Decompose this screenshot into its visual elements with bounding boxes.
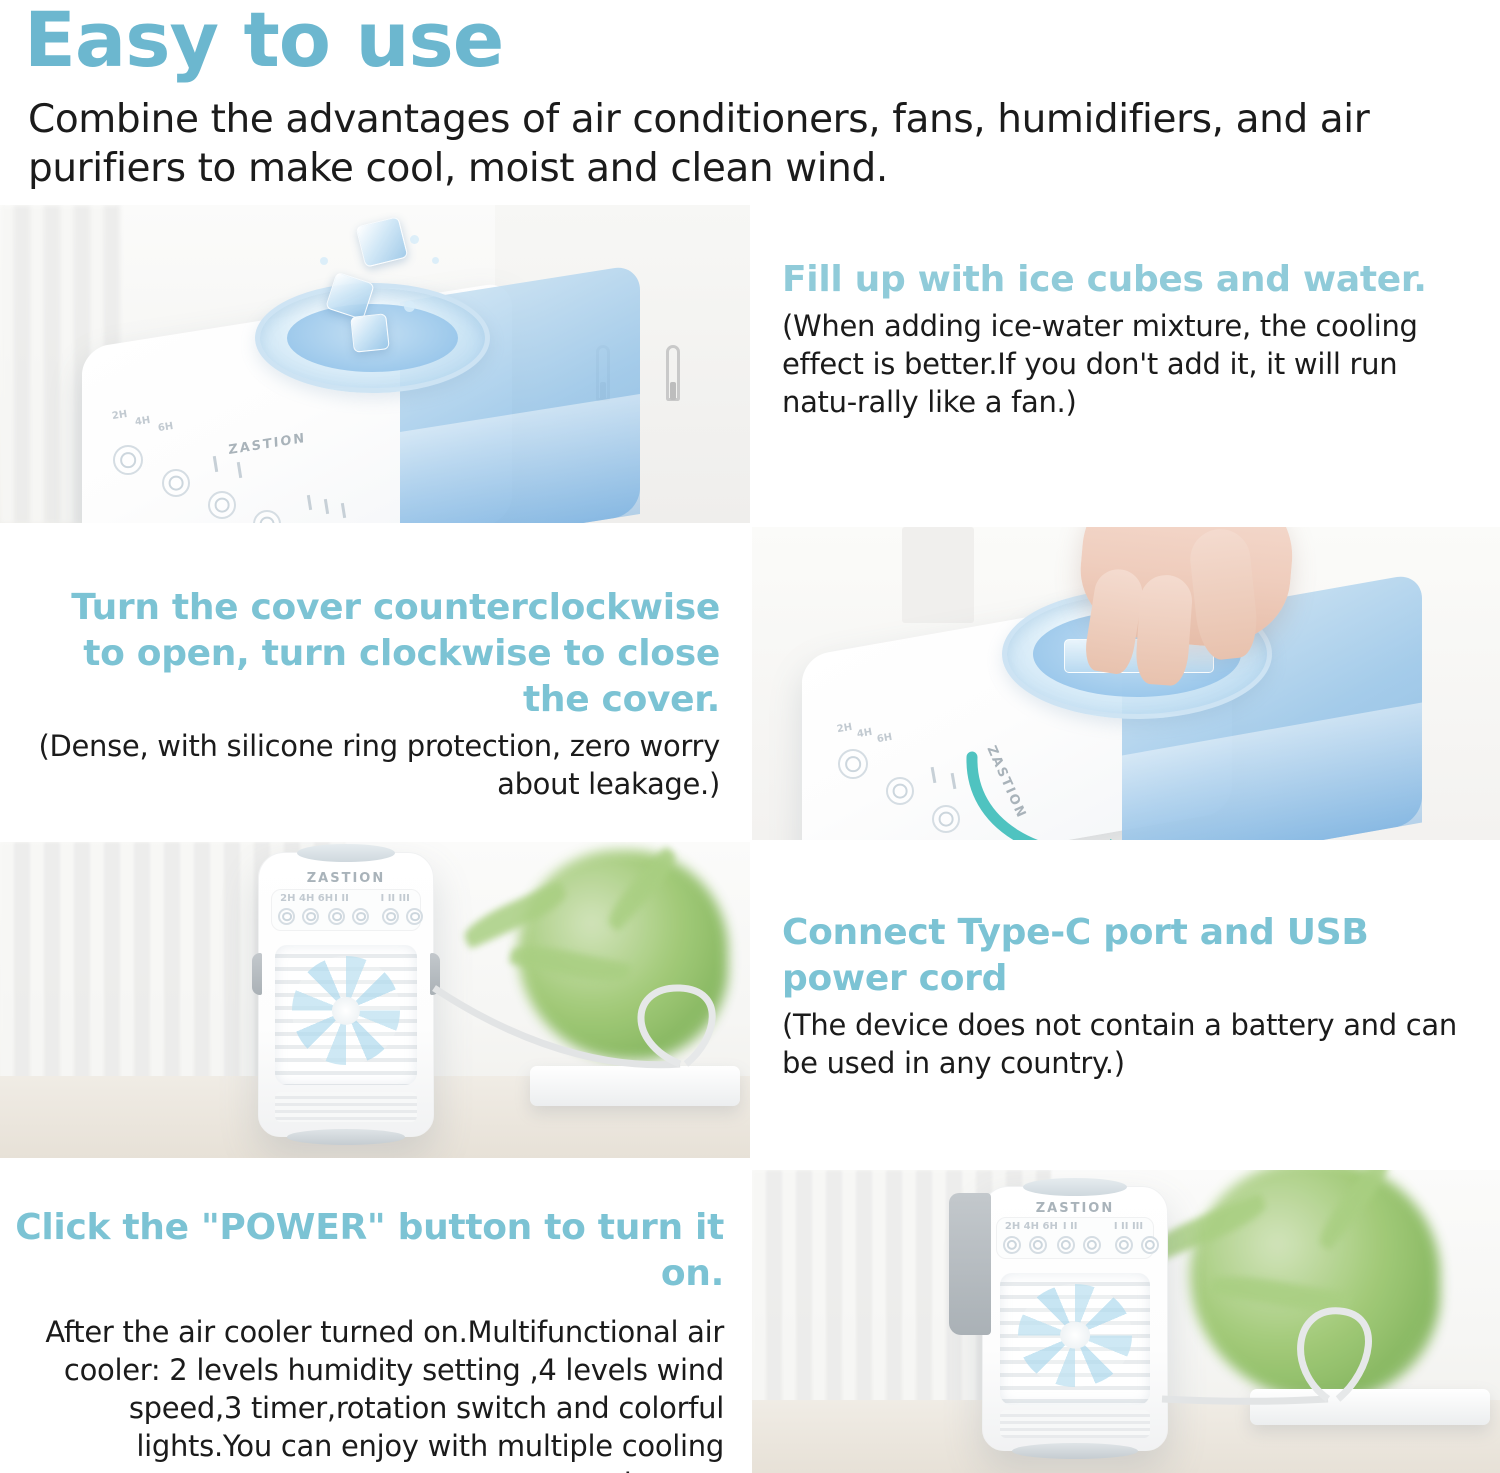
speed-button[interactable] (1115, 1236, 1133, 1254)
swing-button[interactable] (1083, 1236, 1101, 1254)
section-body: (When adding ice-water mixture, the cool… (782, 307, 1472, 421)
light-button[interactable] (302, 908, 319, 925)
section-row-connect-typec: ZASTION 2H 4H 6H I II I II III (0, 842, 1500, 1158)
section-heading: Fill up with ice cubes and water. (782, 257, 1472, 303)
section-row-fill-ice-water: 2H 4H 6H ZASTION Fill up with ice cubes … (0, 205, 1500, 523)
light-button[interactable] (162, 469, 190, 497)
photo-fill-ice-water: 2H 4H 6H ZASTION (0, 205, 750, 523)
page-subtitle: Combine the advantages of air conditione… (28, 95, 1398, 193)
speed-marks-low: I II (1063, 1221, 1078, 1232)
ice-cube (350, 313, 390, 353)
humidity-button[interactable] (208, 491, 236, 519)
section-row-turn-cover: Turn the cover counterclockwise to open,… (0, 527, 1500, 840)
brand-logo: ZASTION (307, 871, 386, 886)
photo-connect-typec: ZASTION 2H 4H 6H I II I II III (0, 842, 750, 1158)
swing-button[interactable] (352, 908, 369, 925)
humidity-button[interactable] (328, 908, 345, 925)
speed-marks-high: I II III (381, 893, 410, 904)
power-button[interactable] (113, 445, 143, 475)
power-cable (430, 972, 750, 1102)
timer-button[interactable] (278, 908, 295, 925)
section-body: After the air cooler turned on.Multifunc… (0, 1313, 724, 1473)
text-connect-typec: Connect Type-C port and USB power cord (… (752, 842, 1500, 1158)
section-heading: Click the "POWER" button to turn it on. (0, 1205, 724, 1297)
page-title: Easy to use (24, 0, 503, 82)
section-row-click-power: Click the "POWER" button to turn it on. … (0, 1170, 1500, 1473)
photo-click-power: ZASTION 2H 4H 6H I II I II III (752, 1170, 1500, 1473)
section-heading: Turn the cover counterclockwise to open,… (30, 585, 720, 723)
humidity-button[interactable] (932, 805, 960, 833)
power-button[interactable] (1141, 1236, 1159, 1254)
section-body: (Dense, with silicone ring protection, z… (30, 727, 720, 803)
light-button[interactable] (1029, 1236, 1047, 1254)
wall-hook-icon (666, 345, 680, 401)
speed-button[interactable] (382, 908, 399, 925)
power-cable (1152, 1281, 1492, 1421)
text-click-power: Click the "POWER" button to turn it on. … (0, 1195, 750, 1473)
light-button[interactable] (886, 777, 914, 805)
carry-handle (949, 1193, 991, 1335)
speed-marks-low: I II (334, 893, 349, 904)
header: Easy to use Combine the advantages of ai… (0, 0, 1500, 205)
power-button[interactable] (838, 749, 868, 779)
speed-marks-high: I II III (1114, 1221, 1143, 1232)
timer-button[interactable] (1003, 1236, 1021, 1254)
brand-logo: ZASTION (1036, 1201, 1115, 1216)
text-turn-cover: Turn the cover counterclockwise to open,… (0, 527, 750, 840)
section-body: (The device does not contain a battery a… (782, 1006, 1482, 1082)
photo-turn-cover: 2H 4H 6H ZASTION (752, 527, 1500, 840)
humidity-button[interactable] (1057, 1236, 1075, 1254)
section-heading: Connect Type-C port and USB power cord (782, 910, 1482, 1002)
text-fill-ice-water: Fill up with ice cubes and water. (When … (752, 205, 1500, 523)
power-button[interactable] (406, 908, 423, 925)
